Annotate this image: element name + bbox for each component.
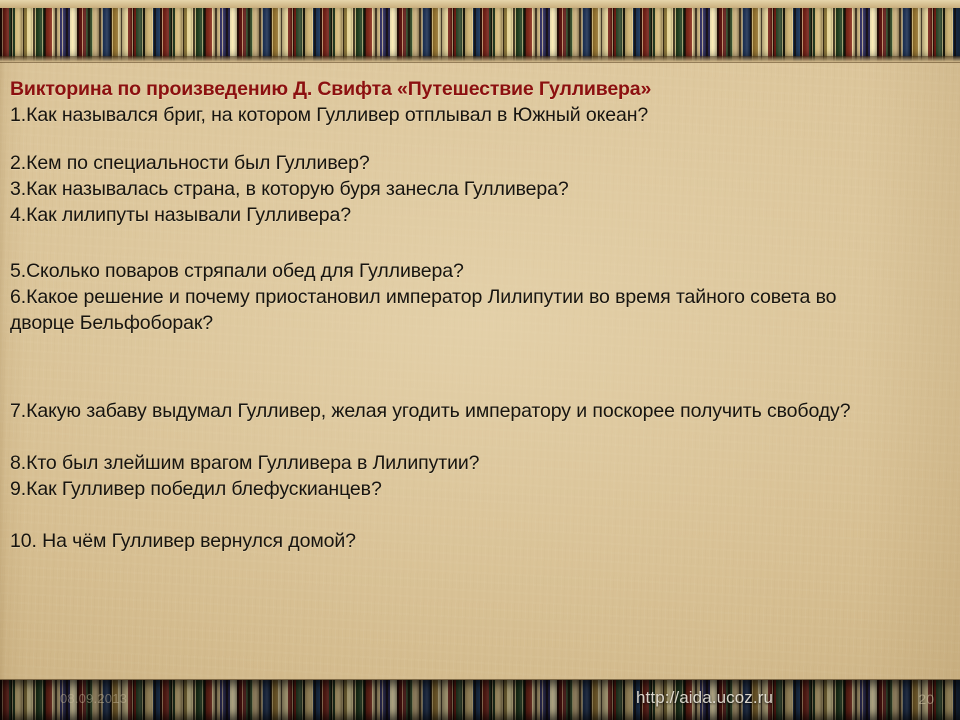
presentation-slide: Викторина по произведению Д. Свифта «Пут… bbox=[0, 0, 960, 720]
question-item-9: 9.Как Гулливер победил блефускианцев? bbox=[10, 476, 890, 502]
bookshelf-border-bottom-icon bbox=[0, 679, 960, 720]
question-item-7: 7.Какую забаву выдумал Гулливер, желая у… bbox=[10, 398, 890, 424]
question-item-2: 2.Кем по специальности был Гулливер? bbox=[10, 150, 890, 176]
question-item-4: 4.Как лилипуты называли Гулливера? bbox=[10, 202, 890, 228]
question-item-1: 1.Как назывался бриг, на котором Гулливе… bbox=[10, 102, 890, 128]
question-item-3: 3.Как называлась страна, в которую буря … bbox=[10, 176, 890, 202]
question-item-6: 6.Какое решение и почему приостановил им… bbox=[10, 284, 890, 336]
spacer bbox=[10, 336, 918, 398]
page-title: Викторина по произведению Д. Свифта «Пут… bbox=[10, 78, 918, 101]
spacer bbox=[10, 424, 918, 450]
spacer bbox=[10, 128, 918, 150]
bookshelf-books-pattern bbox=[0, 0, 960, 62]
slide-content: Викторина по произведению Д. Свифта «Пут… bbox=[0, 62, 960, 680]
question-item-10: 10. На чём Гулливер вернулся домой? bbox=[10, 528, 890, 554]
spacer bbox=[10, 502, 918, 528]
bookshelf-border-top-icon bbox=[0, 0, 960, 63]
question-item-5: 5.Сколько поваров стряпали обед для Гулл… bbox=[10, 258, 890, 284]
spacer bbox=[10, 228, 918, 258]
question-list: 1.Как назывался бриг, на котором Гулливе… bbox=[10, 102, 918, 554]
bookshelf-books-pattern bbox=[0, 680, 960, 720]
question-item-8: 8.Кто был злейшим врагом Гулливера в Лил… bbox=[10, 450, 890, 476]
